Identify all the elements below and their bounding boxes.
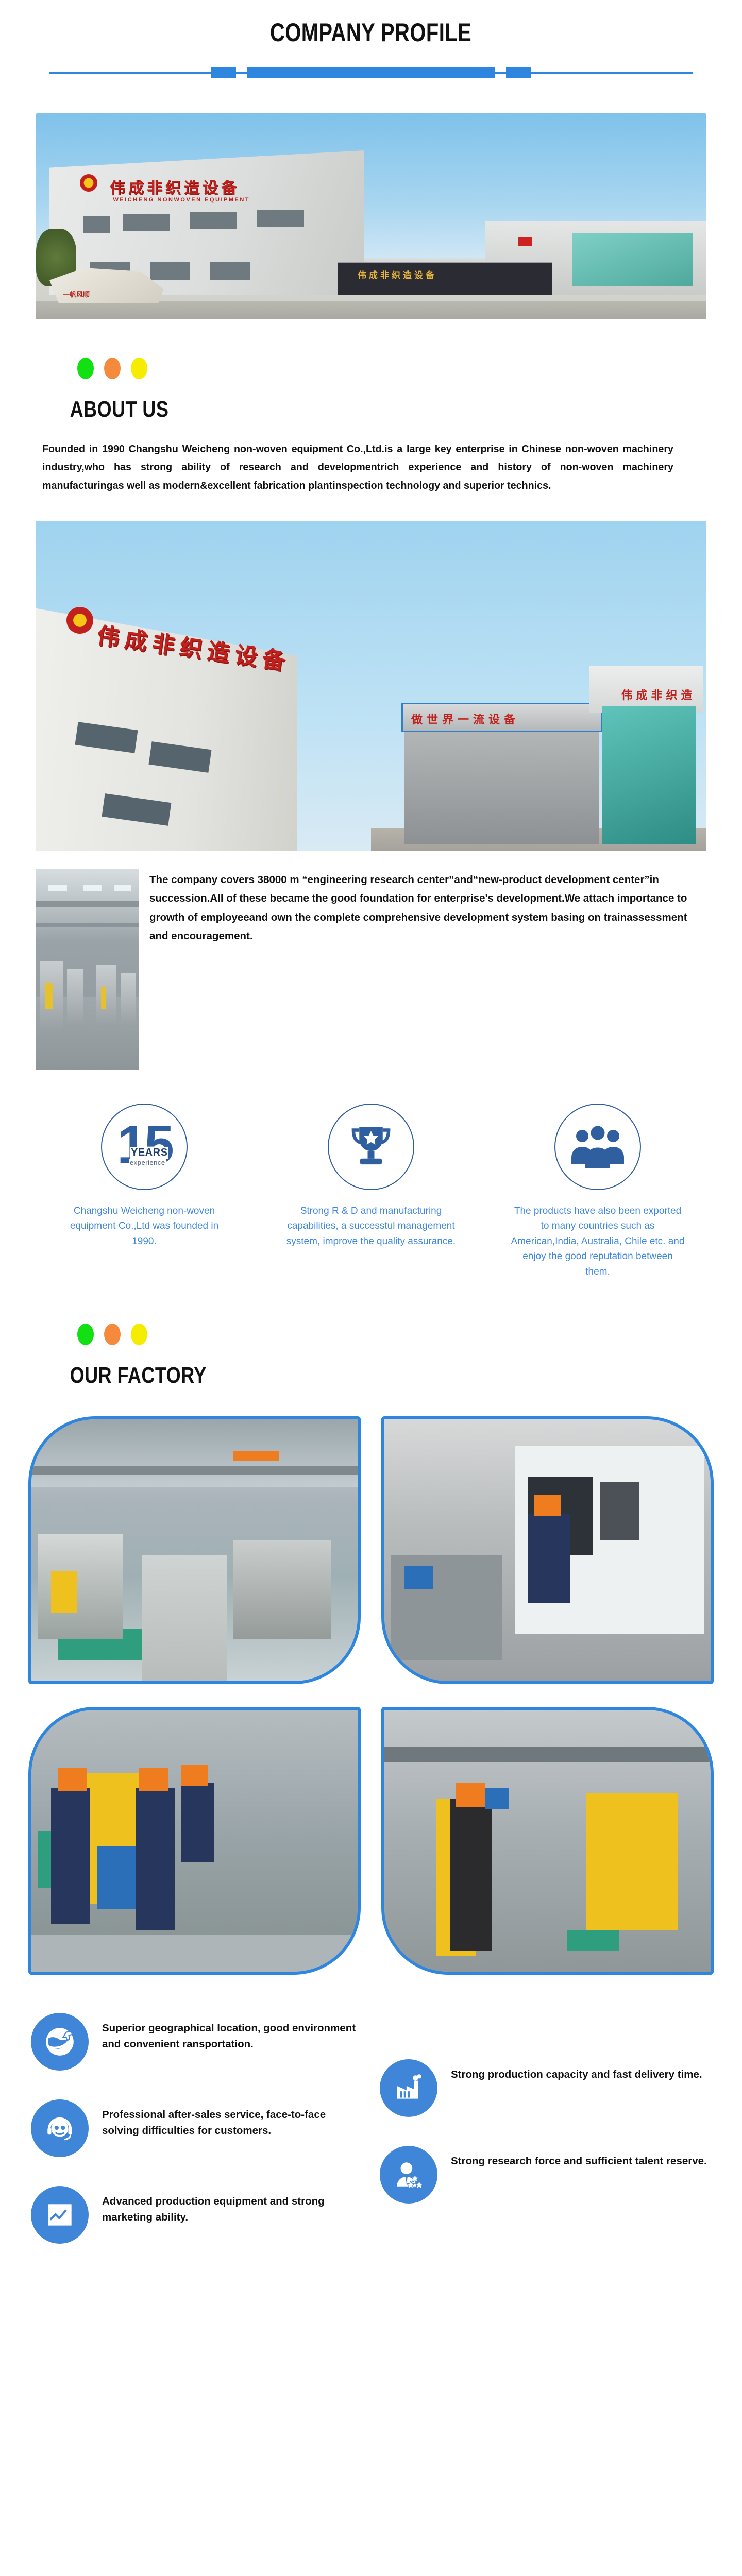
advantage-item-location: Superior geographical location, good env… [31, 2013, 362, 2071]
dot-green-icon [77, 1324, 94, 1345]
workshop-machine [121, 973, 136, 1025]
headset-support-circle [31, 2099, 89, 2157]
banner-gate-text: 伟成非织造设备 [358, 268, 437, 281]
feature-text: Changshu Weicheng non-woven equipment Co… [57, 1204, 232, 1249]
fifteen-years-badge-icon: 15 YEARS experience [101, 1104, 188, 1190]
team-circle [554, 1104, 641, 1190]
divider-gap-right [495, 72, 506, 74]
banner-window [210, 262, 250, 280]
factory-workshop-aisle-photo [28, 1416, 361, 1684]
about-right-building-text: 伟成非织造 [621, 686, 696, 703]
factory-icon [392, 2071, 426, 2105]
workshop-skylight [48, 885, 67, 891]
advantage-item-research: Strong research force and sufficient tal… [380, 2146, 711, 2204]
our-factory-title: OUR FACTORY [36, 1363, 207, 1388]
banner-window [150, 262, 190, 280]
yellow-machine-part [51, 1571, 77, 1613]
company-banner-photo: 伟成非织造设备 WEICHENG NONWOVEN EQUIPMENT 伟成非织… [36, 113, 706, 319]
advantage-text: Advanced production equipment and strong… [102, 2186, 362, 2225]
about-us-section: ABOUT US [0, 358, 742, 422]
aisle-floor [142, 1555, 227, 1681]
globe-plane-icon [43, 2025, 77, 2059]
worker-machine-maintenance-photo [381, 1707, 714, 1975]
dot-yellow-icon [131, 1324, 147, 1345]
banner-window [123, 214, 170, 231]
banner-window [190, 212, 237, 229]
about-photo-left-building: 伟成非织造设备 [36, 521, 371, 851]
banner-sign-english: WEICHENG NONWOVEN EQUIPMENT [113, 197, 250, 203]
divider-block-small-left [211, 67, 236, 78]
worker-two-body [136, 1788, 175, 1929]
feature-item-rd: Strong R & D and manufacturing capabilit… [283, 1104, 459, 1279]
yellow-machine-panel [586, 1793, 678, 1929]
workshop-yellow-part [45, 983, 53, 1009]
advantage-text: Strong research force and sufficient tal… [451, 2146, 707, 2169]
advantage-text: Strong production capacity and fast deli… [451, 2059, 702, 2082]
workshop-skylight [83, 885, 102, 891]
badge-years-label: YEARS [130, 1147, 168, 1159]
about-factory-photo: 伟成非织造设备 做世界一流设备 伟成非织造 [36, 521, 706, 851]
feature-text: The products have also been exported to … [510, 1204, 685, 1279]
dot-green-icon [77, 358, 94, 379]
blue-control-box [97, 1846, 139, 1909]
advantages-left-column: Superior geographical location, good env… [31, 2013, 362, 2273]
about-us-paragraph: Founded in 1990 Changshu Weicheng non-wo… [42, 440, 673, 495]
divider-line-right [531, 72, 693, 74]
our-factory-section: OUR FACTORY [0, 1324, 742, 1388]
blue-tool [404, 1566, 433, 1589]
crane-beam [233, 1451, 279, 1461]
advantages-right-column: Strong production capacity and fast deli… [380, 2013, 711, 2273]
advantage-text: Professional after-sales service, face-t… [102, 2099, 362, 2139]
cnc-control-panel [600, 1482, 639, 1540]
factory-circle [380, 2059, 437, 2117]
advantage-item-service: Professional after-sales service, face-t… [31, 2099, 362, 2157]
workshop-interior-photo [36, 869, 139, 1070]
divider-block-small-right [506, 67, 531, 78]
roof-beam [31, 1466, 358, 1474]
ceiling-structure [31, 1419, 358, 1487]
about-secondary-row: The company covers 38000 m “engineering … [36, 869, 706, 1070]
growth-chart-circle [31, 2186, 89, 2244]
workshop-machine [96, 965, 116, 1025]
worker-one-helmet [58, 1768, 87, 1791]
factory-floor [31, 1935, 358, 1972]
workshop-beam [36, 901, 139, 907]
overhead-beam [384, 1747, 711, 1762]
about-side-paragraph: The company covers 38000 m “engineering … [149, 869, 706, 946]
divider-block-large [247, 67, 495, 78]
trophy-icon [344, 1120, 398, 1174]
divider-gap-left [236, 72, 247, 74]
growth-chart-icon [43, 2198, 77, 2232]
workshop-beam [36, 923, 139, 927]
feature-item-years: 15 YEARS experience Changshu Weicheng no… [57, 1104, 232, 1279]
company-features-row: 15 YEARS experience Changshu Weicheng no… [57, 1104, 685, 1279]
team-group-icon [570, 1120, 626, 1174]
globe-plane-circle [31, 2013, 89, 2071]
talent-star-circle [380, 2146, 437, 2204]
about-photo-right-workshop: 做世界一流设备 伟成非织造 [371, 521, 706, 851]
header-divider [0, 67, 742, 78]
worker-two-helmet [139, 1768, 168, 1791]
talent-star-icon [392, 2158, 426, 2192]
banner-glass-facade [572, 233, 693, 286]
banner-company-logo-icon [80, 174, 97, 192]
trophy-circle [328, 1104, 414, 1190]
green-conveyor [567, 1930, 619, 1951]
banner-window [257, 210, 304, 227]
worker-body [450, 1799, 492, 1951]
advantage-item-equipment: Advanced production equipment and strong… [31, 2186, 362, 2244]
feature-item-export: The products have also been exported to … [510, 1104, 685, 1279]
dot-orange-icon [104, 358, 121, 379]
worker-body [528, 1514, 570, 1603]
workshop-machine [67, 969, 83, 1025]
banner-flag-icon [518, 237, 532, 246]
worker-three-body [181, 1783, 214, 1861]
worker-one-body [51, 1788, 90, 1924]
worker-helmet [456, 1783, 485, 1807]
cnc-machining-center-photo [381, 1416, 714, 1684]
machine-right [233, 1540, 331, 1639]
workers-assembly-line-photo [28, 1707, 361, 1975]
factory-photo-grid [28, 1416, 714, 1975]
about-dots-decoration [36, 358, 706, 379]
feature-text: Strong R & D and manufacturing capabilit… [283, 1204, 459, 1249]
worker-three-helmet [181, 1765, 208, 1786]
banner-sign-chinese: 伟成非织造设备 [110, 175, 240, 198]
page-header: COMPANY PROFILE [0, 0, 742, 78]
banner-window [83, 216, 110, 233]
banner-ground [36, 301, 706, 319]
about-right-glass-facade [602, 706, 696, 844]
dot-orange-icon [104, 1324, 121, 1345]
advantages-section: Superior geographical location, good env… [31, 2013, 711, 2273]
workshop-skylight [114, 885, 131, 891]
worker-helmet [534, 1495, 561, 1516]
blue-tool [485, 1788, 508, 1809]
dot-yellow-icon [131, 358, 147, 379]
about-us-title: ABOUT US [36, 397, 168, 422]
advantage-text: Superior geographical location, good env… [102, 2013, 362, 2052]
badge-experience-label: experience [129, 1159, 166, 1166]
advantage-item-capacity: Strong production capacity and fast deli… [380, 2059, 711, 2117]
factory-dots-decoration [36, 1324, 706, 1345]
about-right-hall-text: 做世界一流设备 [411, 710, 519, 727]
divider-line-left [49, 72, 211, 74]
workshop-yellow-part [101, 987, 106, 1009]
headset-support-icon [43, 2111, 77, 2145]
banner-stone-text: 一帆风顺 [63, 289, 90, 299]
page-title: COMPANY PROFILE [270, 18, 471, 47]
